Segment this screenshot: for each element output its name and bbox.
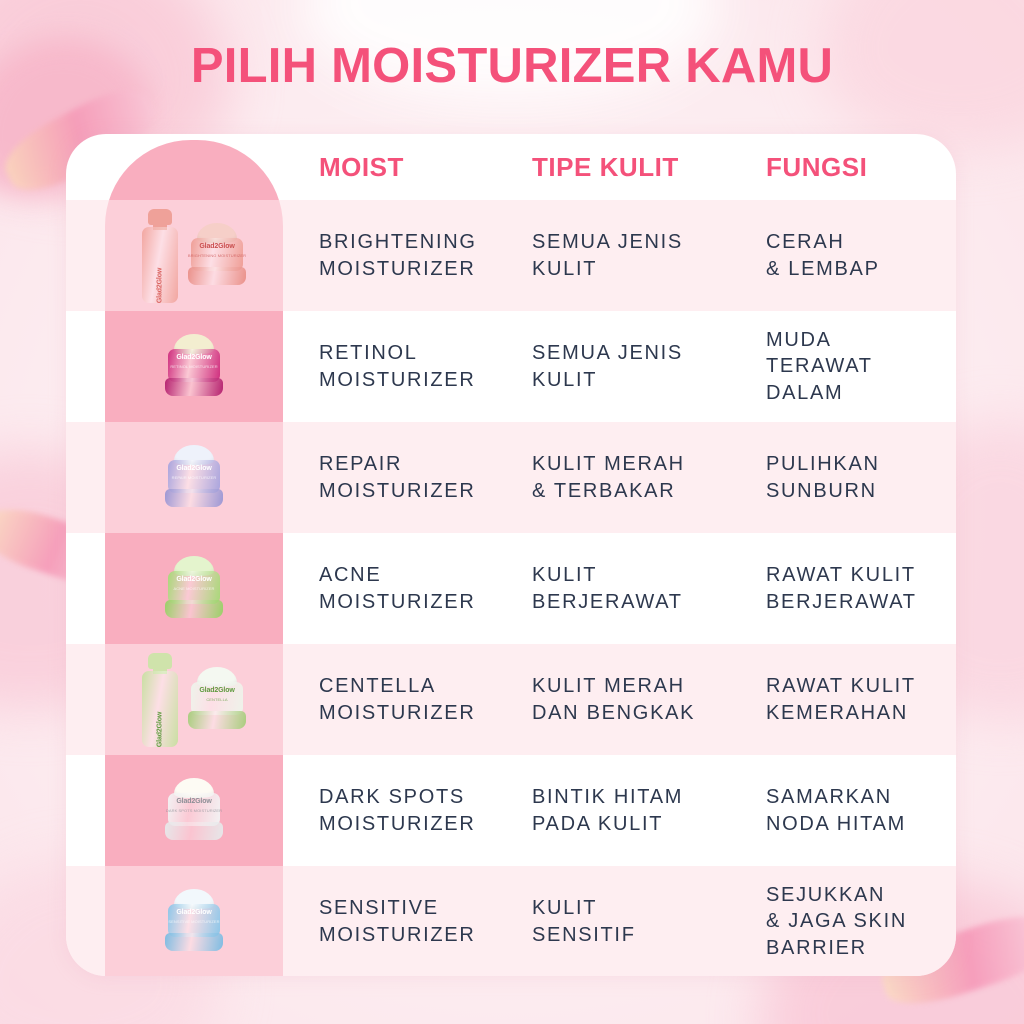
cell-moist: ACNE MOISTURIZER	[319, 533, 519, 644]
cell-function: SEJUKKAN & JAGA SKIN BARRIER	[766, 866, 956, 976]
cell-function: RAWAT KULIT KEMERAHAN	[766, 644, 956, 755]
product-jar: Glad2GlowACNE MOISTURIZER	[163, 556, 225, 622]
table-header-row: MOIST TIPE KULIT FUNGSI	[66, 134, 956, 200]
brand-label: Glad2Glow	[163, 798, 225, 805]
comparison-card: MOIST TIPE KULIT FUNGSI Glad2GlowGlad2Gl…	[66, 134, 956, 976]
cell-moist: DARK SPOTS MOISTURIZER	[319, 755, 519, 866]
brand-label: Glad2Glow	[157, 265, 164, 305]
comparison-table: MOIST TIPE KULIT FUNGSI Glad2GlowGlad2Gl…	[66, 134, 956, 976]
column-header-function: FUNGSI	[766, 152, 956, 183]
cell-skin-type: KULIT MERAH & TERBAKAR	[532, 422, 747, 533]
cell-skin-type: KULIT BERJERAWAT	[532, 533, 747, 644]
cell-skin-type: BINTIK HITAM PADA KULIT	[532, 755, 747, 866]
product-jar: Glad2GlowRETINOL MOISTURIZER	[163, 334, 225, 400]
cell-skin-type: KULIT SENSITIF	[532, 866, 747, 976]
variant-label: BRIGHTENING MOISTURIZER	[186, 253, 248, 258]
cell-function: RAWAT KULIT BERJERAWAT	[766, 533, 956, 644]
variant-label: SENSITIVE MOISTURIZER	[163, 919, 225, 924]
jar-base	[188, 711, 246, 729]
cell-skin-type: KULIT MERAH DAN BENGKAK	[532, 644, 747, 755]
jar-base	[188, 267, 246, 285]
variant-label: REPAIR MOISTURIZER	[163, 475, 225, 480]
product-jar: Glad2GlowREPAIR MOISTURIZER	[163, 445, 225, 511]
infographic-canvas: PILIH MOISTURIZER KAMU MOIST TIPE KULIT …	[0, 0, 1024, 1024]
variant-label: RETINOL MOISTURIZER	[163, 364, 225, 369]
product-image: Glad2GlowACNE MOISTURIZER	[105, 533, 283, 644]
jar-base	[165, 822, 223, 840]
product-jar: Glad2GlowSENSITIVE MOISTURIZER	[163, 889, 225, 955]
page-title: PILIH MOISTURIZER KAMU	[0, 38, 1024, 94]
cell-function: SAMARKAN NODA HITAM	[766, 755, 956, 866]
jar-base	[165, 933, 223, 951]
product-jar: Glad2GlowCENTELLA	[186, 667, 248, 733]
cell-moist: CENTELLA MOISTURIZER	[319, 644, 519, 755]
column-header-skin-type: TIPE KULIT	[532, 152, 747, 183]
column-header-moist: MOIST	[319, 152, 519, 183]
variant-label: CENTELLA	[186, 697, 248, 702]
cell-skin-type: SEMUA JENIS KULIT	[532, 311, 747, 422]
variant-label: DARK SPOTS MOISTURIZER	[163, 808, 225, 813]
product-image: Glad2GlowGlad2GlowCENTELLA	[105, 644, 283, 755]
jar-base	[165, 489, 223, 507]
product-image: Glad2GlowSENSITIVE MOISTURIZER	[105, 866, 283, 976]
product-image: Glad2GlowGlad2GlowBRIGHTENING MOISTURIZE…	[105, 200, 283, 311]
product-image: Glad2GlowRETINOL MOISTURIZER	[105, 311, 283, 422]
brand-label: Glad2Glow	[163, 576, 225, 583]
cell-moist: SENSITIVE MOISTURIZER	[319, 866, 519, 976]
product-pump-bottle: Glad2Glow	[140, 653, 180, 747]
brand-label: Glad2Glow	[186, 687, 248, 694]
cell-moist: RETINOL MOISTURIZER	[319, 311, 519, 422]
product-jar: Glad2GlowDARK SPOTS MOISTURIZER	[163, 778, 225, 844]
product-image: Glad2GlowDARK SPOTS MOISTURIZER	[105, 755, 283, 866]
product-pump-bottle: Glad2Glow	[140, 209, 180, 303]
jar-base	[165, 600, 223, 618]
variant-label: ACNE MOISTURIZER	[163, 586, 225, 591]
brand-label: Glad2Glow	[163, 354, 225, 361]
cell-function: MUDA TERAWAT DALAM	[766, 311, 956, 422]
cell-moist: BRIGHTENING MOISTURIZER	[319, 200, 519, 311]
jar-base	[165, 378, 223, 396]
cell-function: PULIHKAN SUNBURN	[766, 422, 956, 533]
brand-label: Glad2Glow	[163, 909, 225, 916]
product-image: Glad2GlowREPAIR MOISTURIZER	[105, 422, 283, 533]
brand-label: Glad2Glow	[163, 465, 225, 472]
brand-label: Glad2Glow	[157, 709, 164, 749]
cell-skin-type: SEMUA JENIS KULIT	[532, 200, 747, 311]
cell-function: CERAH & LEMBAP	[766, 200, 956, 311]
cell-moist: REPAIR MOISTURIZER	[319, 422, 519, 533]
brand-label: Glad2Glow	[186, 243, 248, 250]
product-jar: Glad2GlowBRIGHTENING MOISTURIZER	[186, 223, 248, 289]
